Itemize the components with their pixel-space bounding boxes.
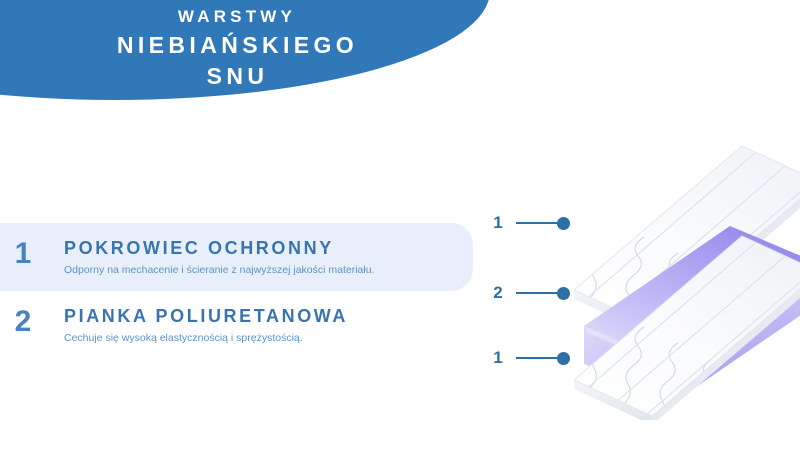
callout-marker-bottom-cover: 1	[490, 348, 570, 368]
callout-marker-top-cover: 1	[490, 213, 570, 233]
callout-number-1: 1	[490, 213, 506, 233]
callout-number-2: 2	[490, 283, 506, 303]
callout-dot-icon	[557, 287, 570, 300]
feature-body-1: POKROWIEC OCHRONNY Odporny na mechacenie…	[46, 237, 473, 278]
callout-leader-line-icon	[516, 357, 558, 359]
infographic-canvas: WARSTWY NIEBIAŃSKIEGO SNU 1 POKROWIEC OC…	[0, 0, 800, 471]
feature-description-2: Cechuje się wysoką elastycznością i sprę…	[64, 330, 480, 346]
feature-list: 1 POKROWIEC OCHRONNY Odporny na mechacen…	[0, 223, 480, 359]
callout-number-3: 1	[490, 348, 506, 368]
mattress-layers-illustration	[560, 130, 800, 420]
feature-body-2: PIANKA POLIURETANOWA Cechuje się wysoką …	[46, 305, 480, 346]
page-title-line-3: SNU	[0, 61, 470, 91]
feature-number-2: 2	[0, 305, 46, 338]
page-title-line-2: NIEBIAŃSKIEGO	[0, 30, 470, 60]
callout-leader-line-icon	[516, 222, 558, 224]
feature-title-2: PIANKA POLIURETANOWA	[64, 305, 480, 327]
callout-marker-foam-core: 2	[490, 283, 570, 303]
callout-dot-icon	[557, 217, 570, 230]
callout-dot-icon	[557, 352, 570, 365]
feature-item-2[interactable]: 2 PIANKA POLIURETANOWA Cechuje się wysok…	[0, 291, 480, 359]
header-title-group: WARSTWY NIEBIAŃSKIEGO SNU	[0, 6, 470, 91]
page-title-line-1: WARSTWY	[0, 6, 470, 28]
feature-description-1: Odporny na mechacenie i ścieranie z najw…	[64, 262, 473, 278]
feature-number-1: 1	[0, 237, 46, 270]
callout-leader-line-icon	[516, 292, 558, 294]
feature-item-1[interactable]: 1 POKROWIEC OCHRONNY Odporny na mechacen…	[0, 223, 473, 291]
feature-title-1: POKROWIEC OCHRONNY	[64, 237, 473, 259]
